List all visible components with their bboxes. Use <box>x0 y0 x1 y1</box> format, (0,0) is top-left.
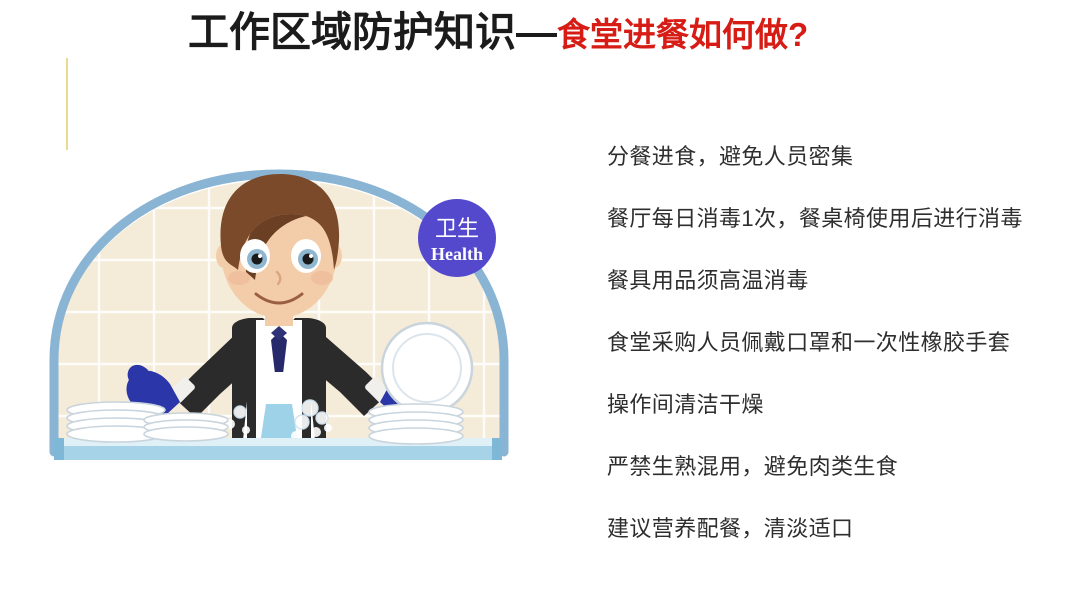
body-line-7: 建议营养配餐，清淡适口 <box>607 518 1072 540</box>
body-line-1: 分餐进食，避免人员密集 <box>607 146 1072 168</box>
gold-accent-rule <box>66 58 68 150</box>
apron-strap-right <box>302 320 311 450</box>
health-badge: 卫生 Health <box>418 199 496 277</box>
page-title: 工作区域防护知识—食堂进餐如何做? <box>188 12 808 53</box>
body-line-6: 严禁生熟混用，避免肉类生食 <box>607 456 1072 478</box>
page-title-accent: 食堂进餐如何做? <box>557 16 808 53</box>
page-title-main: 工作区域防护知识— <box>188 9 557 55</box>
body-text-block: 分餐进食，避免人员密集 餐厅每日消毒1次，餐桌椅使用后进行消毒 餐具用品须高温消… <box>607 146 1072 540</box>
plate-stack-right <box>369 404 463 444</box>
health-badge-en: Health <box>431 244 483 264</box>
cheek-left <box>228 271 250 285</box>
body-line-2: 餐厅每日消毒1次，餐桌椅使用后进行消毒 <box>607 208 1072 230</box>
plate-stack-left-short <box>144 413 228 441</box>
held-plate <box>382 323 472 413</box>
body-line-5: 操作间清洁干燥 <box>607 394 1072 416</box>
cheek-right <box>311 271 333 285</box>
health-badge-cn: 卫生 <box>435 216 479 241</box>
body-line-4: 食堂采购人员佩戴口罩和一次性橡胶手套 <box>607 332 1072 354</box>
eye-left <box>240 239 270 273</box>
eye-right <box>291 239 321 273</box>
body-line-3: 餐具用品须高温消毒 <box>607 270 1072 292</box>
dishwashing-illustration: 卫生 Health <box>44 160 514 460</box>
